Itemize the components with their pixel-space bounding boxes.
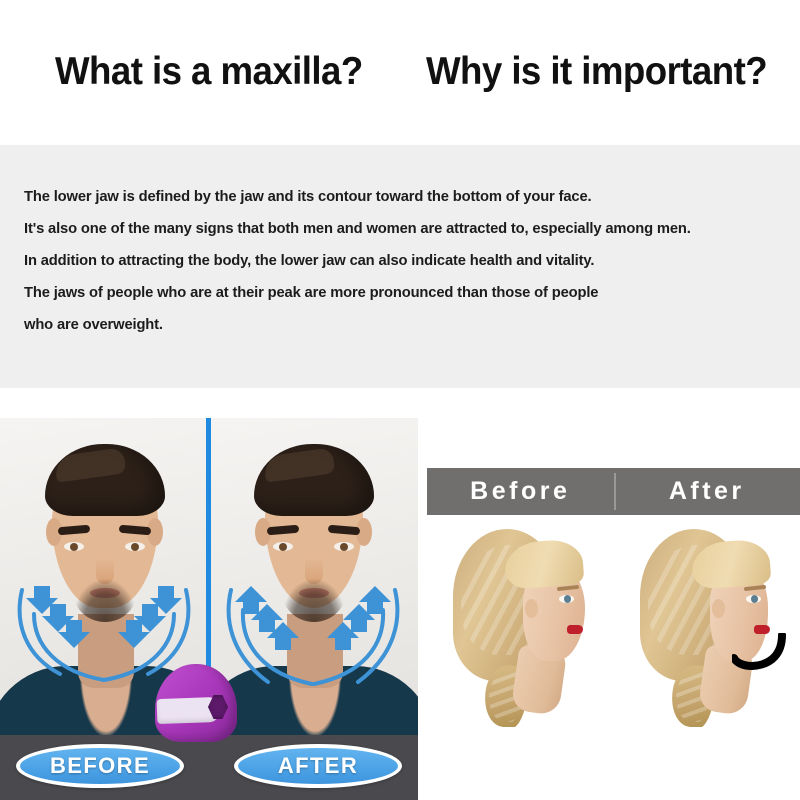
- male-comparison-panel: [0, 418, 418, 800]
- badge-before-label: BEFORE: [50, 753, 150, 779]
- eye: [559, 595, 574, 603]
- ear: [712, 599, 725, 618]
- description-line-3: In addition to attracting the body, the …: [24, 245, 761, 277]
- before-after-header-bar: Before After: [427, 468, 800, 515]
- eye-right: [334, 542, 354, 551]
- after-column-header: After: [614, 468, 800, 515]
- lips: [567, 625, 583, 634]
- description-paragraph: The lower jaw is defined by the jaw and …: [24, 181, 784, 341]
- before-column-header: Before: [427, 468, 614, 515]
- description-band: The lower jaw is defined by the jaw and …: [0, 145, 800, 388]
- hair: [45, 444, 165, 516]
- jaw-exerciser-product-image: [155, 664, 237, 742]
- description-line-4: The jaws of people who are at their peak…: [24, 277, 761, 309]
- description-line-2: It's also one of the many signs that bot…: [24, 213, 761, 245]
- badge-before[interactable]: BEFORE: [16, 744, 184, 788]
- header-band: What is a maxilla? Why is it important?: [0, 0, 800, 145]
- female-comparison-panel: Before After: [427, 468, 800, 800]
- female-after-photo: [614, 515, 800, 727]
- eye-left: [273, 542, 293, 551]
- page-headings: What is a maxilla? Why is it important?: [55, 52, 789, 91]
- eye: [746, 595, 761, 603]
- male-after-face-illustration: [209, 418, 418, 735]
- description-line-5: who are overweight.: [24, 309, 761, 341]
- heading-what-is-a-maxilla: What is a maxilla?: [55, 52, 363, 91]
- before-label: Before: [470, 477, 570, 506]
- ear: [525, 599, 538, 618]
- heading-why-is-it-important: Why is it important?: [426, 52, 767, 91]
- jawline-contour-highlight: [732, 633, 788, 673]
- eye-left: [64, 542, 84, 551]
- badge-after[interactable]: AFTER: [234, 744, 402, 788]
- male-after-photo: [209, 418, 418, 735]
- neck: [287, 614, 343, 688]
- hair: [254, 444, 374, 516]
- description-line-1: The lower jaw is defined by the jaw and …: [24, 181, 761, 213]
- section-spacer: [0, 388, 800, 418]
- neck: [78, 614, 134, 688]
- eye-right: [125, 542, 145, 551]
- female-before-photo: [427, 515, 613, 727]
- after-label: After: [669, 477, 745, 506]
- badge-after-label: AFTER: [278, 753, 358, 779]
